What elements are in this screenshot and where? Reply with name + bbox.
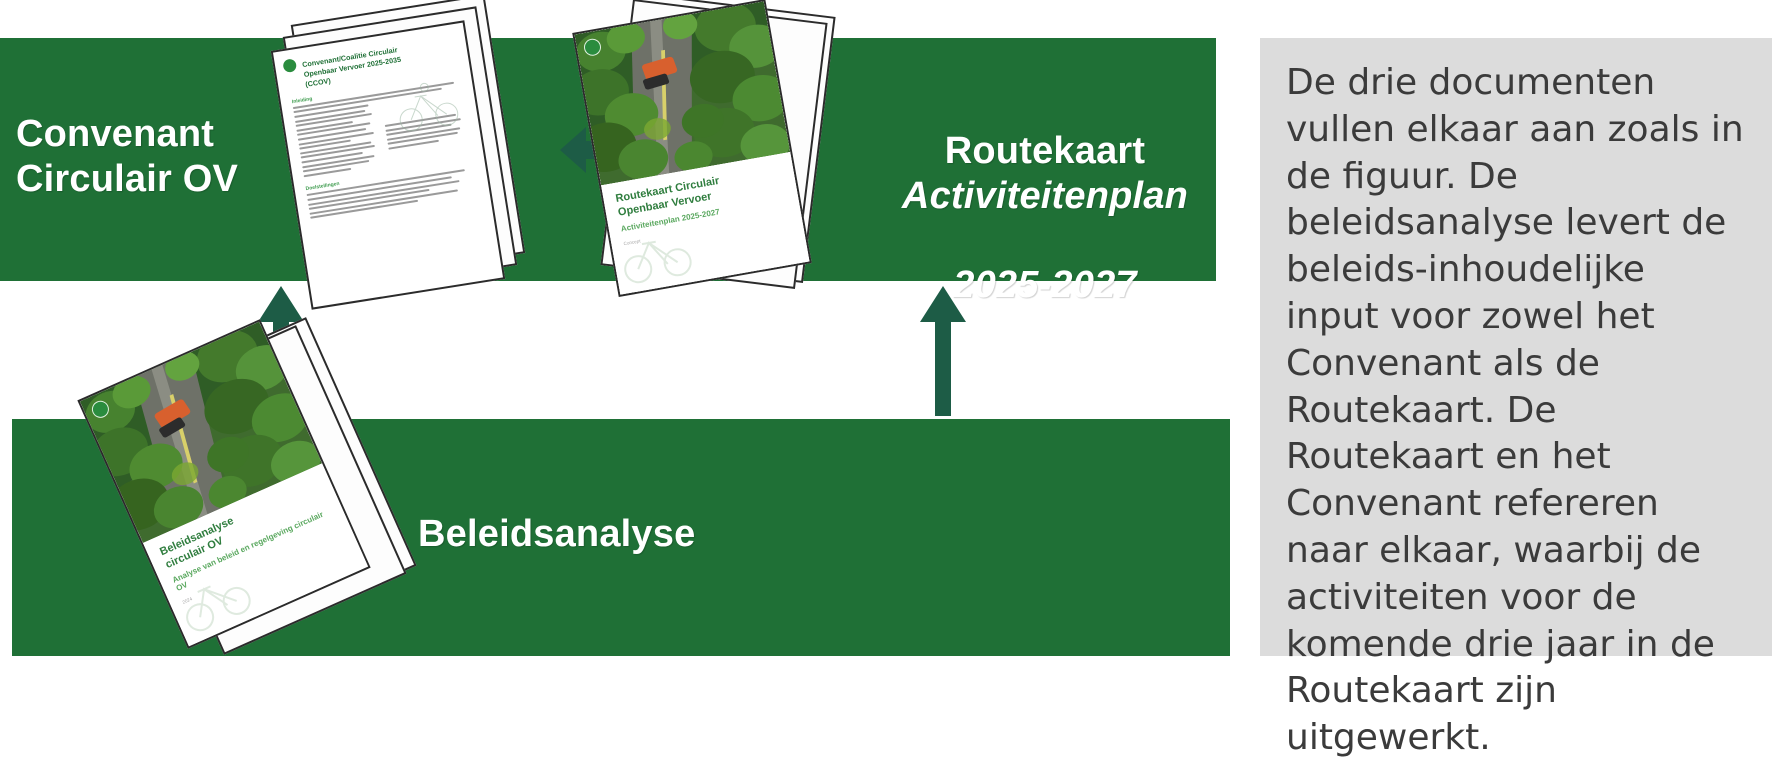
up-arrow-right-icon: [920, 286, 966, 416]
explanatory-note-panel: De drie documenten vullen elkaar aan zoa…: [1260, 38, 1772, 656]
label-convenant-circulair-ov: Convenant Circulair OV: [16, 112, 316, 202]
document-page-front: Convenant/Coalitie Circulair Openbaar Ve…: [271, 20, 506, 309]
document-thumbnail-beleidsanalyse[interactable]: Beleidsanalyse circulair OV Analyse van …: [110, 330, 410, 645]
document-thumbnail-convenant[interactable]: Convenant/Coalitie Circulair Openbaar Ve…: [276, 6, 506, 306]
label-routekaart-line1: Routekaart: [945, 130, 1146, 172]
document-thumbnail-routekaart[interactable]: Routekaart Circulair Openbaar Vervoer Ac…: [586, 0, 836, 300]
organization-logo-icon: [282, 58, 297, 73]
explanatory-note-text: De drie documenten vullen elkaar aan zoa…: [1286, 60, 1746, 762]
label-routekaart-line2: Activiteitenplan: [880, 174, 1210, 219]
bicycle-illustration-icon: [386, 75, 472, 144]
bicycle-watermark-icon: [614, 223, 701, 292]
label-beleidsanalyse: Beleidsanalyse: [418, 512, 838, 557]
diagram-canvas: Convenant Circulair OV Routekaart Activi…: [0, 0, 1772, 716]
